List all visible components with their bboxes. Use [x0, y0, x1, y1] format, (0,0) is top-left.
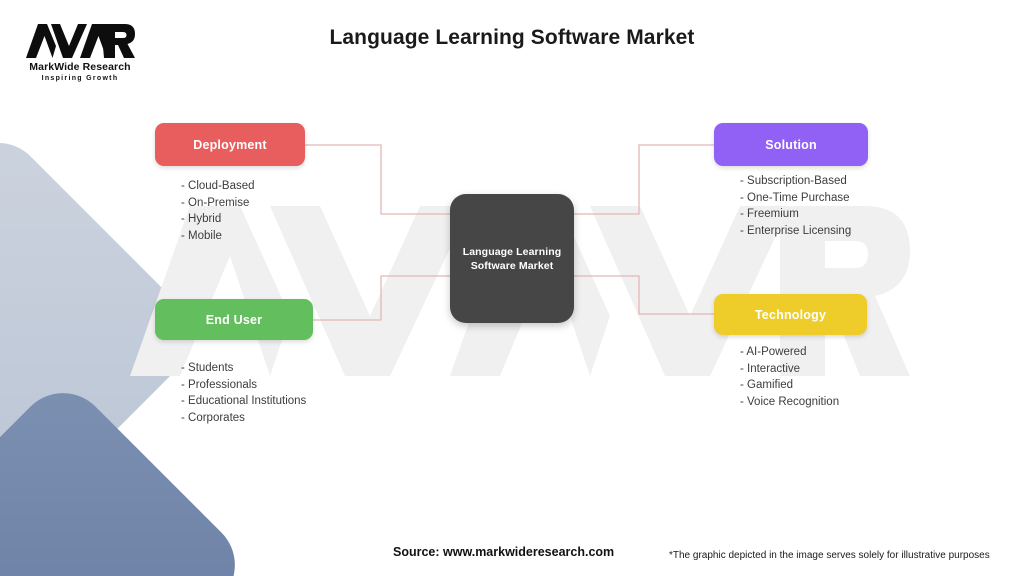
list-item: - One-Time Purchase — [740, 190, 851, 207]
list-item: - Freemium — [740, 206, 851, 223]
center-node[interactable]: Language Learning Software Market — [450, 194, 574, 323]
list-item: - Hybrid — [181, 211, 255, 228]
logo-tagline: Inspiring Growth — [16, 75, 144, 82]
node-end-user-label: End User — [206, 313, 262, 327]
items-deployment: - Cloud-Based - On-Premise - Hybrid - Mo… — [181, 178, 255, 244]
list-item: - AI-Powered — [740, 344, 839, 361]
list-item: - Students — [181, 360, 306, 377]
source-text: Source: www.markwideresearch.com — [393, 545, 614, 559]
list-item: - Corporates — [181, 410, 306, 427]
list-item: - Interactive — [740, 361, 839, 378]
connector-solution — [572, 145, 714, 214]
node-solution-label: Solution — [765, 138, 817, 152]
list-item: - Voice Recognition — [740, 394, 839, 411]
list-item: - Mobile — [181, 228, 255, 245]
items-solution: - Subscription-Based - One-Time Purchase… — [740, 173, 851, 239]
node-deployment[interactable]: Deployment — [155, 123, 305, 166]
center-node-line-1: Language Learning — [463, 245, 562, 259]
node-technology[interactable]: Technology — [714, 294, 867, 335]
page-title: Language Learning Software Market — [0, 26, 1024, 50]
node-solution[interactable]: Solution — [714, 123, 868, 166]
center-node-line-2: Software Market — [471, 259, 554, 273]
slide-canvas: MarkWide Research Inspiring Growth Langu… — [0, 0, 1024, 576]
list-item: - Enterprise Licensing — [740, 223, 851, 240]
list-item: - Professionals — [181, 377, 306, 394]
logo-company-name: MarkWide Research — [16, 61, 144, 73]
node-deployment-label: Deployment — [193, 138, 267, 152]
items-technology: - AI-Powered - Interactive - Gamified - … — [740, 344, 839, 410]
list-item: - Cloud-Based — [181, 178, 255, 195]
connector-technology — [572, 276, 714, 314]
node-technology-label: Technology — [755, 308, 826, 322]
node-end-user[interactable]: End User — [155, 299, 313, 340]
list-item: - Educational Institutions — [181, 393, 306, 410]
disclaimer-text: *The graphic depicted in the image serve… — [669, 550, 990, 561]
items-end-user: - Students - Professionals - Educational… — [181, 360, 306, 426]
list-item: - Subscription-Based — [740, 173, 851, 190]
connector-deployment — [305, 145, 452, 214]
connector-end-user — [313, 276, 452, 320]
list-item: - Gamified — [740, 377, 839, 394]
list-item: - On-Premise — [181, 195, 255, 212]
